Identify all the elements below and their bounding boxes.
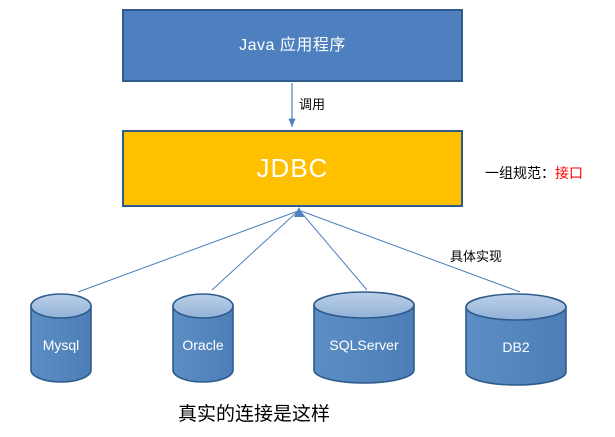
database-cylinder-oracle[interactable]: Oracle [172,293,234,383]
diagram-canvas: Java 应用程序 调用 JDBC 一组规范：接口 具体实现 Mysql Ora… [0,0,615,437]
diagram-caption: 真实的连接是这样 [178,399,330,426]
cylinder-icon [313,291,415,385]
specification-prefix: 一组规范： [485,165,555,181]
specification-annotation: 一组规范：接口 [485,163,583,183]
arrow-sqlserver-to-jdbc [300,211,367,290]
database-cylinder-db2[interactable]: DB2 [465,293,567,387]
database-cylinder-mysql[interactable]: Mysql [30,293,92,383]
cylinder-icon [465,293,567,387]
arrow-mysql-to-jdbc [78,211,298,292]
call-annotation: 调用 [299,94,325,113]
database-cylinder-sqlserver[interactable]: SQLServer [313,291,415,385]
implementation-annotation: 具体实现 [450,246,502,265]
convergence-arrowhead [294,207,304,217]
java-application-label: Java 应用程序 [239,36,346,55]
arrow-oracle-to-jdbc [212,211,298,290]
java-application-box[interactable]: Java 应用程序 [122,9,463,82]
cylinder-icon [172,293,234,383]
cylinder-icon [30,293,92,383]
specification-accent: 接口 [555,165,583,181]
jdbc-label: JDBC [257,153,329,184]
jdbc-box[interactable]: JDBC [122,130,463,207]
